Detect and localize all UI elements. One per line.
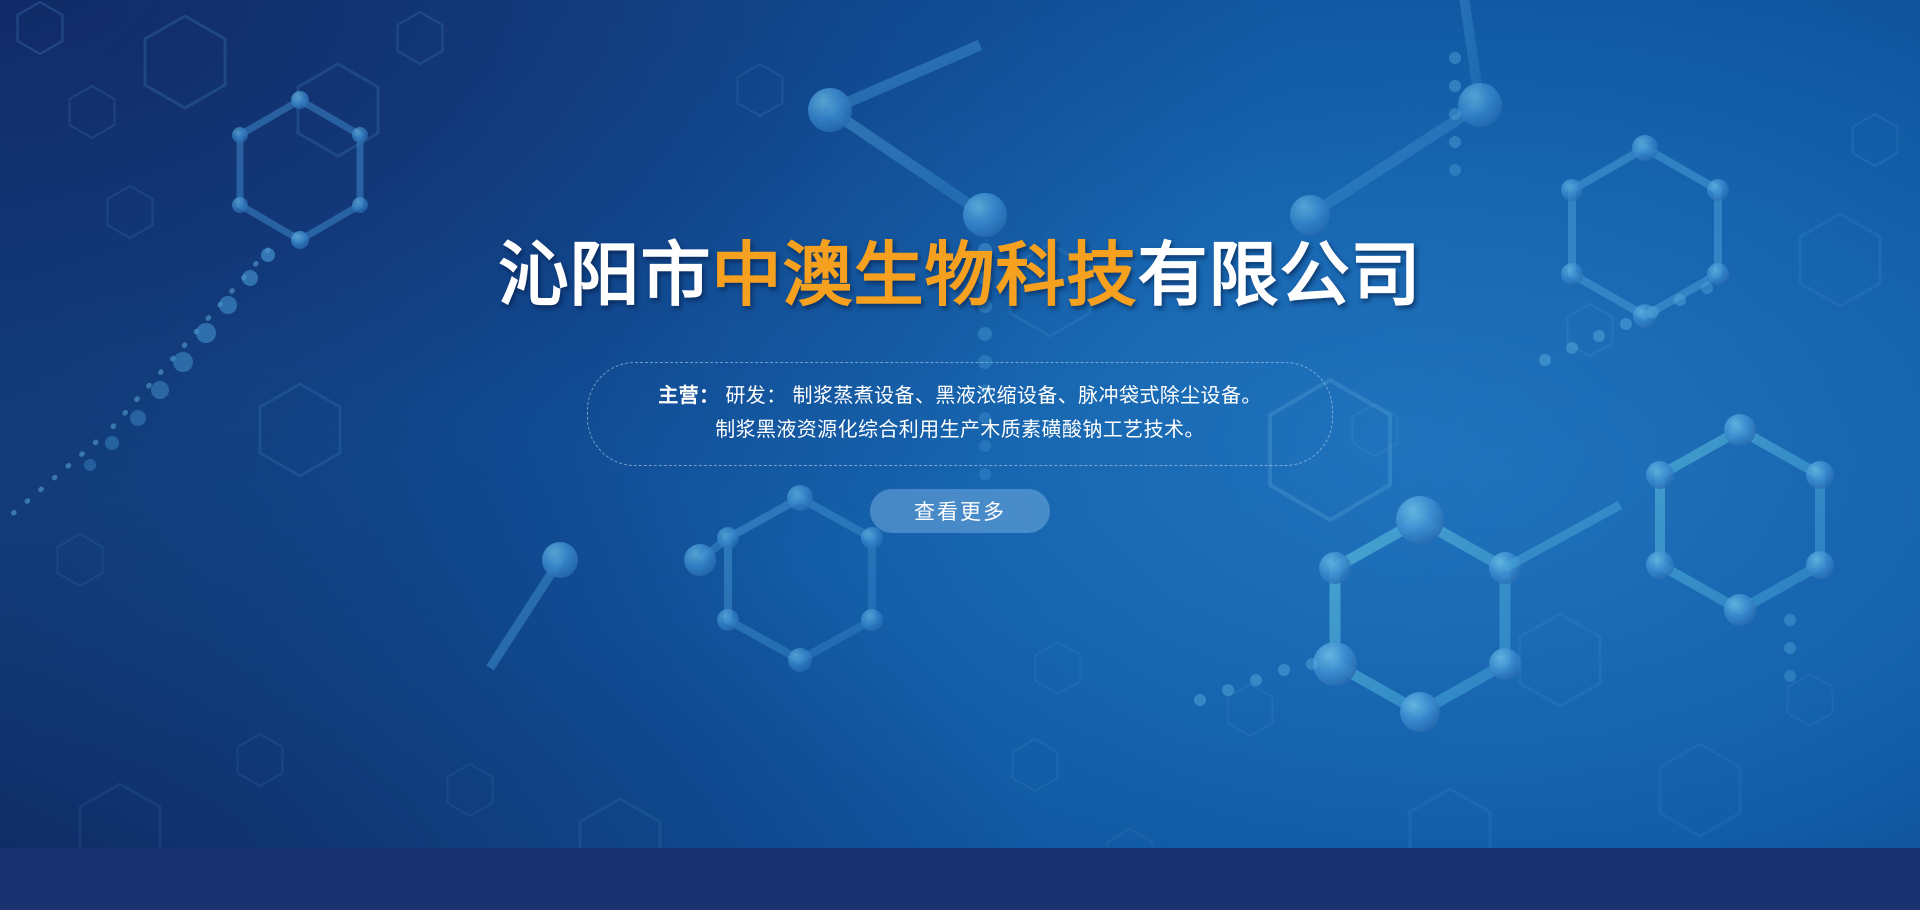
banner-content: 沁阳市中澳生物科技有限公司 主营： 研发： 制浆蒸煮设备、黑液浓缩设备、脉冲袋式… [0, 0, 1920, 910]
page-title-suffix: 有限公司 [1138, 236, 1422, 314]
subtitle-line-2: 制浆黑液资源化综合利用生产木质素磺酸钠工艺技术。 [622, 413, 1298, 447]
subtitle-line-1: 主营： 研发： 制浆蒸煮设备、黑液浓缩设备、脉冲袋式除尘设备。 [622, 379, 1298, 413]
subtitle-lead-label: 主营： [658, 385, 719, 407]
hero-banner: 沁阳市中澳生物科技有限公司 主营： 研发： 制浆蒸煮设备、黑液浓缩设备、脉冲袋式… [0, 0, 1920, 910]
bottom-navy-band [0, 848, 1920, 910]
page-title-prefix: 沁阳市 [499, 236, 712, 314]
page-title-accent: 中澳生物科技 [712, 236, 1138, 314]
subtitle-line-1-rest: 研发： 制浆蒸煮设备、黑液浓缩设备、脉冲袋式除尘设备。 [719, 385, 1261, 407]
subtitle-box: 主营： 研发： 制浆蒸煮设备、黑液浓缩设备、脉冲袋式除尘设备。 制浆黑液资源化综… [587, 362, 1333, 466]
view-more-button[interactable]: 查看更多 [870, 489, 1050, 533]
page-title: 沁阳市中澳生物科技有限公司 [0, 238, 1920, 314]
